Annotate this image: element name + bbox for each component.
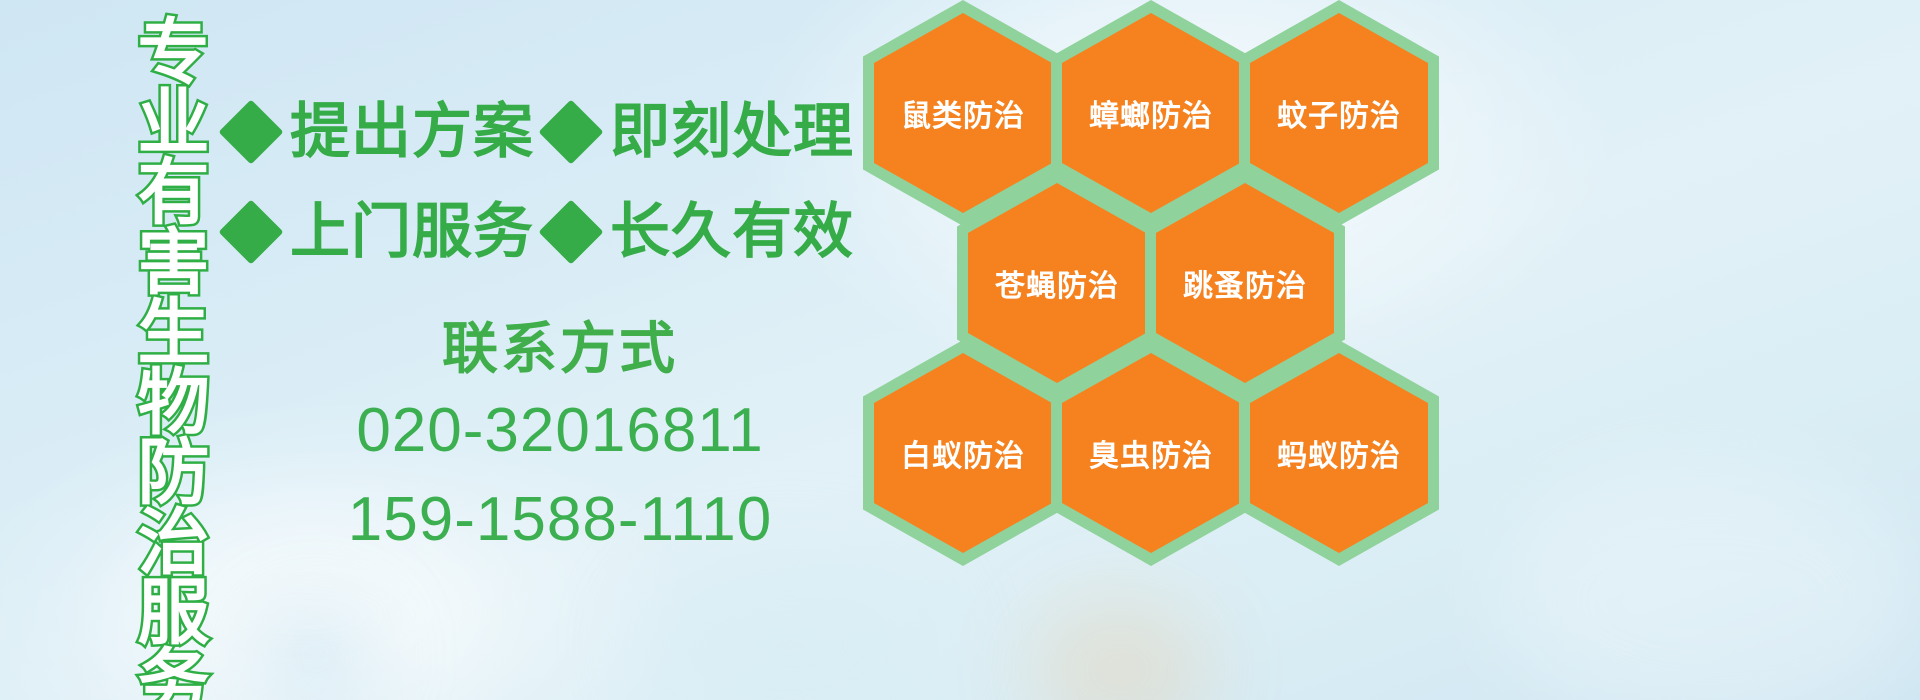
feature-list: 提出方案 即刻处理 上门服务 长久有效 (228, 82, 868, 282)
contact-heading: 联系方式 (300, 318, 820, 380)
service-label: 臭虫防治 (1089, 431, 1213, 475)
service-hexagon[interactable]: 白蚁防治 (863, 340, 1063, 566)
background-blur-blob (640, 560, 940, 700)
service-hexagon[interactable]: 臭虫防治 (1051, 340, 1251, 566)
feature-label: 即刻处理 (610, 102, 854, 162)
feature-label: 上门服务 (290, 202, 534, 262)
background-blur-blob (250, 600, 380, 700)
service-label: 鼠类防治 (901, 91, 1025, 135)
service-label: 蟑螂防治 (1089, 91, 1213, 135)
feature-label: 长久有效 (610, 202, 854, 262)
service-honeycomb: 鼠类防治 蟑螂防治 蚊子防治 苍蝇防治 跳蚤防治 (855, 0, 1475, 554)
feature-row: 提出方案 即刻处理 (228, 82, 868, 182)
service-label: 白蚁防治 (901, 431, 1025, 475)
feature-item: 上门服务 (228, 202, 548, 262)
service-label: 跳蚤防治 (1183, 261, 1307, 305)
feature-item: 即刻处理 (548, 102, 854, 162)
contact-block: 联系方式 020-32016811 159-1588-1110 (300, 318, 820, 559)
service-hexagon[interactable]: 蚂蚁防治 (1239, 340, 1439, 566)
diamond-bullet-icon (218, 99, 283, 164)
service-label: 蚂蚁防治 (1277, 431, 1401, 475)
diamond-bullet-icon (538, 99, 603, 164)
diamond-bullet-icon (218, 199, 283, 264)
pest-control-banner: 专业有害生物防治服务 提出方案 即刻处理 上门服务 长久有效 联系方式 (0, 0, 1920, 700)
service-label: 蚊子防治 (1277, 91, 1401, 135)
feature-item: 提出方案 (228, 102, 548, 162)
phone-number-mobile[interactable]: 159-1588-1110 (300, 481, 820, 559)
service-label: 苍蝇防治 (995, 261, 1119, 305)
feature-item: 长久有效 (548, 202, 854, 262)
background-blur-blob (1030, 600, 1210, 700)
background-blur-blob (1500, 470, 1920, 700)
phone-number-landline[interactable]: 020-32016811 (300, 392, 820, 470)
vertical-title: 专业有害生物防治服务 (105, 14, 200, 700)
feature-row: 上门服务 长久有效 (228, 182, 868, 282)
feature-label: 提出方案 (290, 102, 534, 162)
diamond-bullet-icon (538, 199, 603, 264)
